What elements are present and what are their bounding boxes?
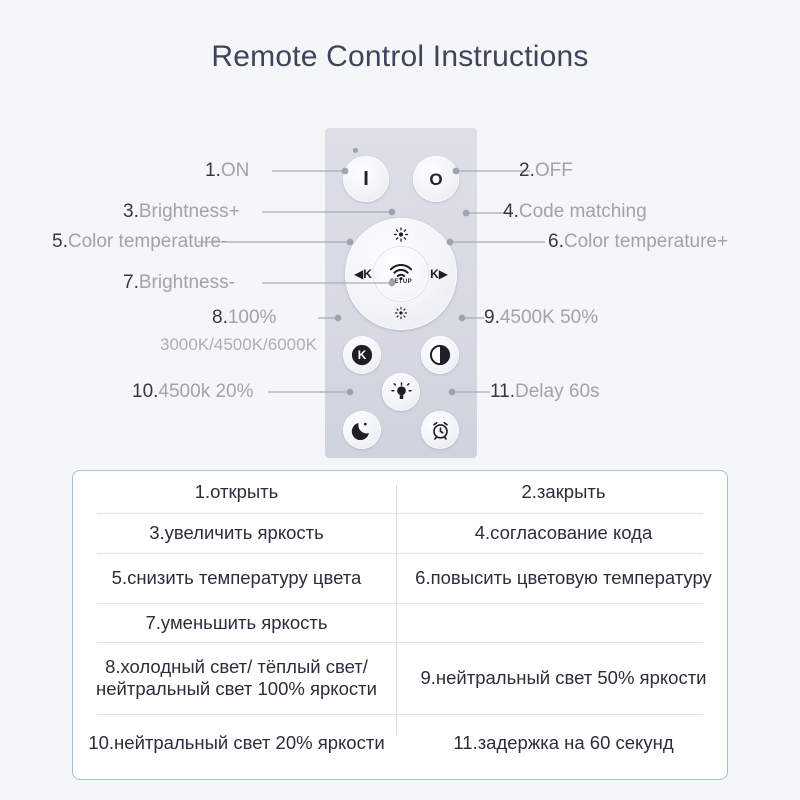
callout-6: 6.Color temperature+ <box>548 231 728 253</box>
callout-3-label: Brightness+ <box>139 201 240 222</box>
kelvin-icon: K <box>351 344 373 366</box>
table-cell-11: 11.задержка на 60 секунд <box>400 714 727 771</box>
callout-1: 1.ON <box>205 160 249 182</box>
table-cell-3: 3.увеличить яркость <box>73 513 400 553</box>
table-cell-8: 8.холодный свет/ тёплый свет/ нейтральны… <box>73 642 400 714</box>
callout-7-label: Brightness- <box>139 272 235 293</box>
callout-5-number: 5. <box>52 231 68 252</box>
callout-8-label: 100% <box>228 307 277 328</box>
full-brightness-button[interactable] <box>382 373 420 411</box>
callout-2: 2.OFF <box>519 160 573 182</box>
callout-11: 11.Delay 60s <box>490 381 600 403</box>
callout-6-label: Color temperature+ <box>564 231 728 252</box>
table-row: 10.нейтральный свет 20% яркости 11.задер… <box>73 714 727 771</box>
contrast-half-icon <box>429 344 451 366</box>
kelvin-cycle-button[interactable]: K <box>343 336 381 374</box>
callout-5-label: Color temperature- <box>68 231 227 252</box>
power-on-button[interactable]: I <box>343 156 389 202</box>
table-cell-2: 2.закрыть <box>400 471 727 513</box>
ir-led-indicator-icon <box>353 148 358 153</box>
table-row: 1.открыть 2.закрыть <box>73 471 727 513</box>
svg-text:K: K <box>358 348 367 362</box>
callout-3-number: 3. <box>123 201 139 222</box>
table-cell-5: 5.снизить температуру цвета <box>73 553 400 603</box>
callout-7-number: 7. <box>123 272 139 293</box>
callout-1-label: ON <box>221 160 250 181</box>
table-cell-9: 9.нейтральный свет 50% яркости <box>400 642 727 714</box>
callout-8-sublabel: 3000K/4500K/6000K <box>160 335 317 355</box>
callout-9-label: 4500K 50% <box>500 307 598 328</box>
table-cell-7: 7.уменьшить яркость <box>73 603 400 642</box>
callout-4: 4.Code matching <box>503 201 647 223</box>
callout-5: 5.Color temperature- <box>52 231 227 253</box>
brightness-50-button[interactable] <box>421 336 459 374</box>
setup-label: SETUP <box>390 279 412 285</box>
callout-9: 9.4500K 50% <box>484 307 598 329</box>
callout-10-label: 4500k 20% <box>158 381 253 402</box>
sun-bright-icon[interactable] <box>394 227 409 245</box>
table-row: 7.уменьшить яркость <box>73 603 727 642</box>
callout-7: 7.Brightness- <box>123 272 235 294</box>
callout-4-label: Code matching <box>519 201 647 222</box>
callout-1-number: 1. <box>205 160 221 181</box>
night-light-button[interactable] <box>343 411 381 449</box>
table-row: 3.увеличить яркость 4.согласование кода <box>73 513 727 553</box>
wifi-icon <box>389 264 413 280</box>
power-off-icon: O <box>429 171 442 188</box>
callout-4-number: 4. <box>503 201 519 222</box>
page-title: Remote Control Instructions <box>0 40 800 74</box>
delay-timer-button[interactable] <box>421 411 459 449</box>
setup-code-matching-button[interactable]: SETUP <box>374 247 428 301</box>
callout-3: 3.Brightness+ <box>123 201 240 223</box>
callout-2-label: OFF <box>535 160 573 181</box>
table-cell-4: 4.согласование кода <box>400 513 727 553</box>
light-bulb-icon <box>391 382 412 403</box>
color-temp-up-label[interactable]: K▶ <box>430 267 448 281</box>
callout-10: 10.4500k 20% <box>132 381 254 403</box>
table-cell-6: 6.повысить цветовую температуру <box>400 553 727 603</box>
callout-10-number: 10. <box>132 381 158 402</box>
power-on-icon: I <box>363 169 369 189</box>
callout-8-number: 8. <box>212 307 228 328</box>
callout-2-number: 2. <box>519 160 535 181</box>
alarm-clock-icon <box>430 420 451 441</box>
callout-9-number: 9. <box>484 307 500 328</box>
color-temp-down-label[interactable]: ◀K <box>354 267 372 281</box>
translation-table: 1.открыть 2.закрыть 3.увеличить яркость … <box>72 470 728 780</box>
table-cell-10: 10.нейтральный свет 20% яркости <box>73 714 400 771</box>
moon-night-icon <box>351 419 373 441</box>
callout-11-label: Delay 60s <box>515 381 600 402</box>
table-row: 5.снизить температуру цвета 6.повысить ц… <box>73 553 727 603</box>
table-cell-1: 1.открыть <box>73 471 400 513</box>
remote-control-body: I O ◀K K▶ <box>325 128 477 458</box>
table-row: 8.холодный свет/ тёплый свет/ нейтральны… <box>73 642 727 714</box>
power-off-button[interactable]: O <box>413 156 459 202</box>
sun-dim-icon[interactable] <box>394 306 408 323</box>
directional-pad[interactable]: ◀K K▶ SETUP <box>345 218 457 330</box>
callout-8: 8.100% <box>212 307 276 329</box>
callout-11-number: 11. <box>490 381 515 402</box>
callout-6-number: 6. <box>548 231 564 252</box>
table-cell-empty <box>400 603 727 642</box>
